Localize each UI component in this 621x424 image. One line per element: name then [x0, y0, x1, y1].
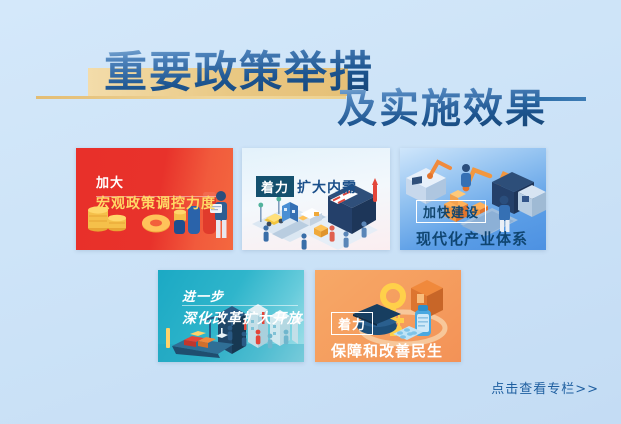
- card-4-text: 进一步 深化改革扩大开放: [182, 286, 302, 328]
- card-1-text: 加大 宏观政策调控力度: [96, 172, 216, 213]
- card-3-line2: 现代化产业体系: [416, 228, 528, 249]
- title-dash-rule: [524, 97, 586, 101]
- card-2-line1: 着力: [256, 176, 294, 197]
- deepen-reform-card[interactable]: 进一步 深化改革扩大开放: [158, 270, 304, 362]
- card-1-line1: 加大: [96, 172, 216, 191]
- card-2-text: 着力扩大内需: [256, 176, 357, 197]
- page-title-line2: 及实施效果: [337, 76, 547, 134]
- page-title-line1: 重要政策举措: [104, 38, 374, 100]
- macro-policy-card[interactable]: 加大 宏观政策调控力度: [76, 148, 233, 250]
- card-1-line2: 宏观政策调控力度: [96, 193, 216, 213]
- card-4-line1: 进一步: [182, 286, 302, 305]
- card-4-line2: 深化改革扩大开放: [182, 308, 302, 328]
- expand-domestic-demand-card[interactable]: 着力扩大内需: [242, 148, 390, 250]
- infographic-banner: 重要政策举措 及实施效果: [0, 0, 621, 424]
- card-5-text: 着力 保障和改善民生: [331, 312, 443, 361]
- card-5-line1: 着力: [331, 312, 373, 335]
- improve-livelihood-card[interactable]: 着力 保障和改善民生: [315, 270, 461, 362]
- modern-industrial-system-card[interactable]: 加快建设 现代化产业体系: [400, 148, 546, 250]
- card-2-line2: 扩大内需: [297, 177, 357, 197]
- view-column-link[interactable]: 点击查看专栏>>: [491, 378, 599, 397]
- card-5-line2: 保障和改善民生: [331, 340, 443, 361]
- isometric-city-commerce-illustration: [242, 148, 390, 250]
- card-3-text: 加快建设 现代化产业体系: [416, 200, 528, 249]
- card-3-line1: 加快建设: [416, 200, 486, 223]
